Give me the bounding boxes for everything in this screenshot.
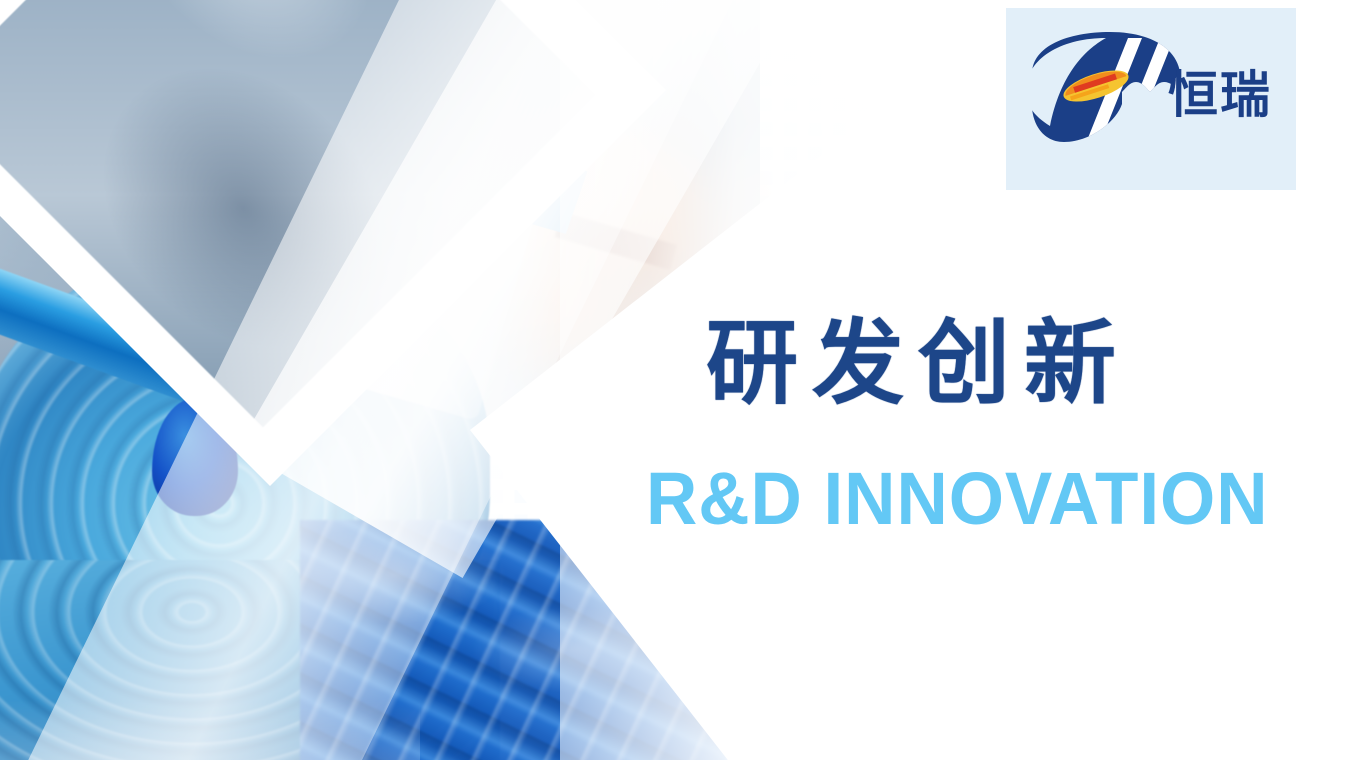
logo-brand-name: 恒瑞: [1168, 70, 1272, 120]
rd-innovation-banner: 研发创新 R&D INNOVATION: [0, 0, 1350, 760]
page-title: 研发创新: [706, 318, 1130, 410]
hengrui-swoosh-logo-icon: [1024, 30, 1184, 148]
page-subtitle: R&D INNOVATION: [646, 462, 1269, 536]
bottom-white-veil: [0, 700, 420, 760]
logo-panel[interactable]: 恒瑞: [1006, 8, 1296, 190]
